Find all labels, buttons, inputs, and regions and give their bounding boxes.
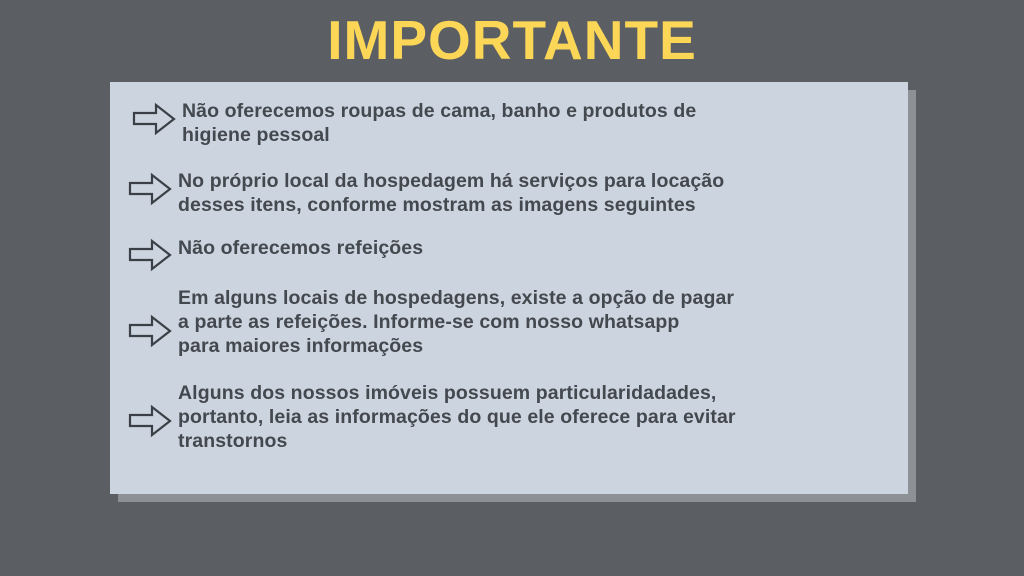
content-panel: Não oferecemos roupas de cama, banho e p… xyxy=(110,82,908,494)
list-item: No próprio local da hospedagem há serviç… xyxy=(128,170,898,218)
list-item-text: Alguns dos nossos imóveis possuem partic… xyxy=(178,382,736,453)
page-title: IMPORTANTE xyxy=(0,12,1024,70)
arrow-right-outline-icon xyxy=(132,102,176,136)
arrow-right-outline-icon xyxy=(128,172,172,206)
list-item: Alguns dos nossos imóveis possuem partic… xyxy=(128,382,898,453)
slide: IMPORTANTE Não oferecemos roupas de cama… xyxy=(0,0,1024,576)
arrow-right-outline-icon xyxy=(128,238,172,272)
list-item-text: Não oferecemos roupas de cama, banho e p… xyxy=(182,100,696,148)
arrow-right-outline-icon xyxy=(128,314,172,348)
list-item: Em alguns locais de hospedagens, existe … xyxy=(128,287,898,358)
list-item: Não oferecemos roupas de cama, banho e p… xyxy=(132,100,892,148)
list-item: Não oferecemos refeições xyxy=(128,237,898,272)
list-item-text: No próprio local da hospedagem há serviç… xyxy=(178,170,724,218)
list-item-text: Não oferecemos refeições xyxy=(178,237,423,261)
arrow-right-outline-icon xyxy=(128,404,172,438)
list-item-text: Em alguns locais de hospedagens, existe … xyxy=(178,287,734,358)
bullet-list: Não oferecemos roupas de cama, banho e p… xyxy=(110,82,908,494)
